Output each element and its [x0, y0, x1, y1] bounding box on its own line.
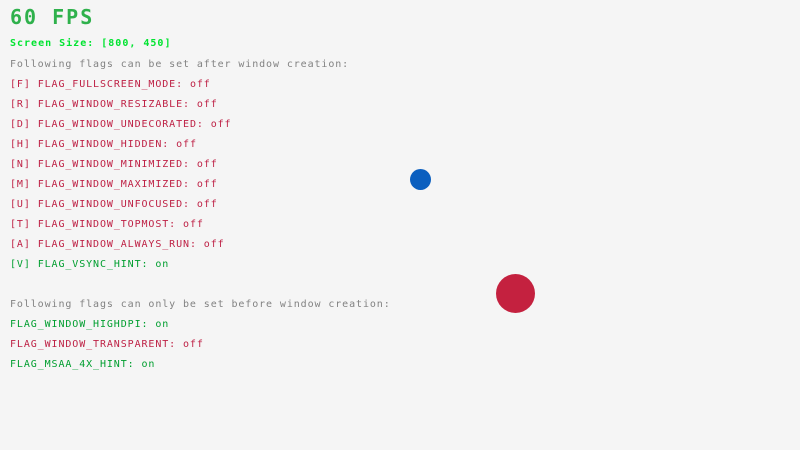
flag-key: [T] [10, 219, 38, 230]
raylib-window-canvas: 60 FPS Screen Size: [800, 450] Following… [0, 0, 800, 450]
flag-row[interactable]: [R] FLAG_WINDOW_RESIZABLE: off [10, 100, 218, 110]
flag-name: FLAG_WINDOW_HIGHDPI: [10, 319, 148, 330]
flag-row[interactable]: FLAG_MSAA_4X_HINT: on [10, 360, 155, 370]
bouncing-ball-blue [410, 169, 431, 190]
flag-value: on [148, 259, 169, 270]
flag-value: off [169, 139, 197, 150]
flag-name: FLAG_WINDOW_ALWAYS_RUN: [38, 239, 197, 250]
screen-size-label: Screen Size: [800, 450] [10, 39, 171, 49]
flag-value: on [148, 319, 169, 330]
flag-name: FLAG_WINDOW_UNDECORATED: [38, 119, 204, 130]
flag-row[interactable]: [F] FLAG_FULLSCREEN_MODE: off [10, 80, 211, 90]
flag-name: FLAG_WINDOW_MINIMIZED: [38, 159, 190, 170]
flag-name: FLAG_WINDOW_HIDDEN: [38, 139, 170, 150]
flag-name: FLAG_VSYNC_HINT: [38, 259, 149, 270]
flag-row[interactable]: [D] FLAG_WINDOW_UNDECORATED: off [10, 120, 231, 130]
flag-value: off [176, 339, 204, 350]
flag-value: off [197, 239, 225, 250]
creation-flags-heading: Following flags can only be set before w… [10, 300, 391, 310]
flag-row[interactable]: [V] FLAG_VSYNC_HINT: on [10, 260, 169, 270]
flag-name: FLAG_MSAA_4X_HINT: [10, 359, 135, 370]
flag-key: [V] [10, 259, 38, 270]
flag-name: FLAG_WINDOW_TOPMOST: [38, 219, 176, 230]
flag-value: off [190, 159, 218, 170]
bouncing-ball-red [496, 274, 535, 313]
flag-row[interactable]: [A] FLAG_WINDOW_ALWAYS_RUN: off [10, 240, 225, 250]
flag-name: FLAG_WINDOW_MAXIMIZED: [38, 179, 190, 190]
flag-value: off [183, 79, 211, 90]
flag-key: [U] [10, 199, 38, 210]
flag-key: [H] [10, 139, 38, 150]
flag-key: [R] [10, 99, 38, 110]
flag-key: [A] [10, 239, 38, 250]
flag-key: [M] [10, 179, 38, 190]
flag-row[interactable]: FLAG_WINDOW_HIGHDPI: on [10, 320, 169, 330]
flag-key: [N] [10, 159, 38, 170]
fps-counter: 60 FPS [10, 7, 94, 27]
flag-name: FLAG_WINDOW_UNFOCUSED: [38, 199, 190, 210]
flag-row[interactable]: [T] FLAG_WINDOW_TOPMOST: off [10, 220, 204, 230]
flag-value: off [176, 219, 204, 230]
flag-name: FLAG_WINDOW_TRANSPARENT: [10, 339, 176, 350]
flag-row[interactable]: FLAG_WINDOW_TRANSPARENT: off [10, 340, 204, 350]
flag-row[interactable]: [U] FLAG_WINDOW_UNFOCUSED: off [10, 200, 218, 210]
flag-value: off [190, 199, 218, 210]
flag-value: off [204, 119, 232, 130]
runtime-flags-heading: Following flags can be set after window … [10, 60, 349, 70]
flag-key: [D] [10, 119, 38, 130]
flag-row[interactable]: [H] FLAG_WINDOW_HIDDEN: off [10, 140, 197, 150]
flag-row[interactable]: [M] FLAG_WINDOW_MAXIMIZED: off [10, 180, 218, 190]
flag-value: off [190, 99, 218, 110]
flag-key: [F] [10, 79, 38, 90]
flag-row[interactable]: [N] FLAG_WINDOW_MINIMIZED: off [10, 160, 218, 170]
flag-name: FLAG_WINDOW_RESIZABLE: [38, 99, 190, 110]
flag-value: off [190, 179, 218, 190]
flag-name: FLAG_FULLSCREEN_MODE: [38, 79, 183, 90]
flag-value: on [135, 359, 156, 370]
